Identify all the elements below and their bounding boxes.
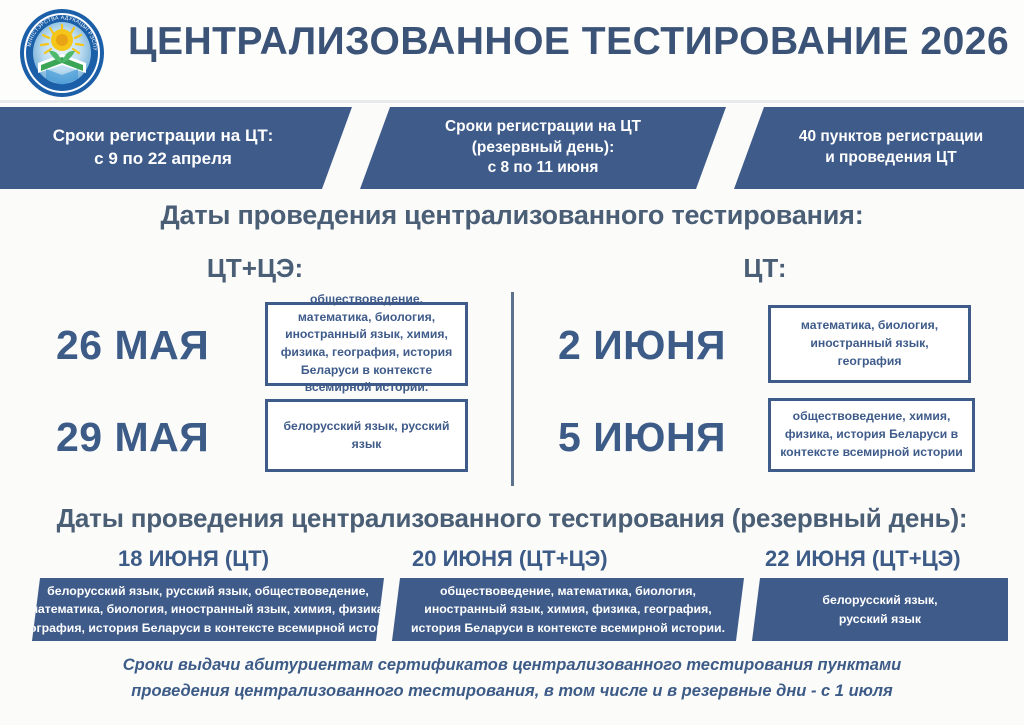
reserve-box-2-line-3: история Беларуси в контексте всемирной и… <box>411 619 725 637</box>
certificate-issue-note: Сроки выдачи абитуриентам сертификатов ц… <box>40 652 984 704</box>
reserve-date-label-22-june: 22 ИЮНЯ (ЦТ+ЦЭ) <box>765 546 961 572</box>
header-divider <box>0 100 1024 103</box>
subject-box-29-may: белорусский язык, русский язык <box>265 399 468 472</box>
reserve-section-heading: Даты проведения централизованного тестир… <box>0 503 1024 534</box>
column-divider <box>511 292 514 486</box>
reserve-subject-box-18-june: белорусский язык, русский язык, общество… <box>32 578 384 641</box>
reserve-date-label-20-june: 20 ИЮНЯ (ЦТ+ЦЭ) <box>412 546 608 572</box>
reserve-date-label-18-june: 18 ИЮНЯ (ЦТ) <box>118 546 269 572</box>
ribbon-3-line-2: и проведения ЦТ <box>825 148 957 169</box>
date-label-26-may: 26 МАЯ <box>56 322 209 369</box>
poster-header: МІНІСТЭРСТВА АДУКАЦЫІ РЭСПУБЛІКІ БЕЛАРУС… <box>0 0 1024 104</box>
date-label-2-june: 2 ИЮНЯ <box>558 322 726 369</box>
subject-box-2-june: математика, биология, иностранный язык, … <box>768 305 971 383</box>
ribbon-registration-reserve-dates: Сроки регистрации на ЦТ (резервный день)… <box>360 107 726 189</box>
subject-box-26-may: обществоведение, математика, биология, и… <box>265 302 468 386</box>
reserve-subject-box-20-june: обществоведение, математика, биология, и… <box>392 578 744 641</box>
ribbon-2-line-1: Сроки регистрации на ЦТ <box>445 117 641 138</box>
ministry-emblem-icon: МІНІСТЭРСТВА АДУКАЦЫІ РЭСПУБЛІКІ БЕЛАРУС… <box>16 7 108 99</box>
column-label-ct: ЦТ: <box>620 253 910 284</box>
subject-box-5-june: обществоведение, химия, физика, история … <box>768 398 975 472</box>
ribbon-2-line-2: (резервный день): <box>472 138 614 159</box>
date-label-5-june: 5 ИЮНЯ <box>558 414 726 461</box>
reserve-subject-box-22-june: белорусский язык, русский язык <box>752 578 1008 641</box>
reserve-box-3-line-1: белорусский язык, <box>822 591 937 609</box>
reserve-box-2-line-2: иностранный язык, химия, физика, географ… <box>424 600 711 618</box>
ribbon-registration-points: 40 пунктов регистрации и проведения ЦТ <box>734 107 1024 189</box>
main-section-heading: Даты проведения централизованного тестир… <box>0 200 1024 231</box>
ribbon-3-line-1: 40 пунктов регистрации <box>799 127 983 148</box>
reserve-box-3-line-2: русский язык <box>839 610 921 628</box>
footer-line-1: Сроки выдачи абитуриентам сертификатов ц… <box>40 652 984 678</box>
reserve-box-2-line-1: обществоведение, математика, биология, <box>440 582 696 600</box>
infographic-poster: МІНІСТЭРСТВА АДУКАЦЫІ РЭСПУБЛІКІ БЕЛАРУС… <box>0 0 1024 725</box>
registration-ribbon-bar: Сроки регистрации на ЦТ: с 9 по 22 апрел… <box>0 107 1024 189</box>
ribbon-1-line-2: с 9 по 22 апреля <box>94 148 232 171</box>
ribbon-2-line-3: с 8 по 11 июня <box>488 158 599 179</box>
reserve-box-1-line-3: география, история Беларуси в контексте … <box>17 619 399 637</box>
date-label-29-may: 29 МАЯ <box>56 414 209 461</box>
ribbon-registration-dates: Сроки регистрации на ЦТ: с 9 по 22 апрел… <box>0 107 352 189</box>
ribbon-1-line-1: Сроки регистрации на ЦТ: <box>53 125 273 148</box>
column-label-ct-ce: ЦТ+ЦЭ: <box>110 253 400 284</box>
page-title: ЦЕНТРАЛИЗОВАННОЕ ТЕСТИРОВАНИЕ 2026 <box>128 20 1008 64</box>
reserve-box-1-line-1: белорусский язык, русский язык, общество… <box>47 582 369 600</box>
reserve-box-1-line-2: математика, биология, иностранный язык, … <box>29 600 387 618</box>
footer-line-2: проведения централизованного тестировани… <box>40 678 984 704</box>
